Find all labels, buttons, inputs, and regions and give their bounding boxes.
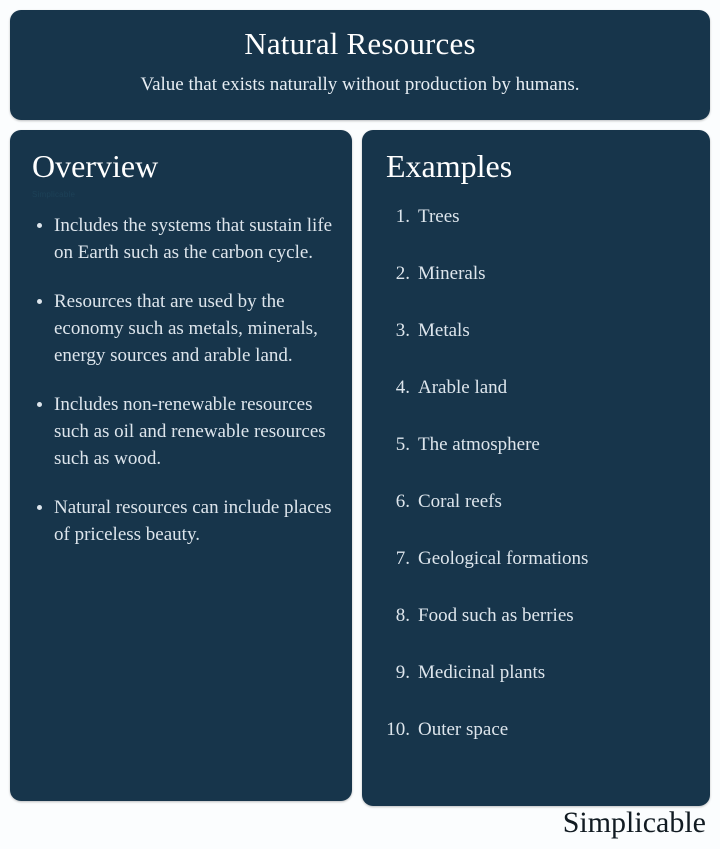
list-item: 9. Medicinal plants (374, 660, 694, 686)
list-item: Natural resources can include places of … (32, 494, 336, 548)
list-item-number: 5. (374, 432, 410, 458)
list-item-number: 6. (374, 489, 410, 515)
overview-heading: Overview (32, 146, 336, 186)
list-item-label: Medicinal plants (418, 660, 694, 686)
list-item-number: 1. (374, 204, 410, 230)
list-item-label: Arable land (418, 375, 694, 401)
list-item-number: 2. (374, 261, 410, 287)
list-item: Includes non-renewable resources such as… (32, 391, 336, 472)
overview-bullet-text: Resources that are used by the economy s… (54, 291, 318, 366)
list-item-label: Minerals (418, 261, 694, 287)
overview-bullet-list: Includes the systems that sustain life o… (32, 212, 336, 548)
list-item-number: 8. (374, 603, 410, 629)
overview-bullet-text: Includes the systems that sustain life o… (54, 215, 332, 263)
list-item: 7. Geological formations (374, 546, 694, 572)
overview-bullet-text: Includes non-renewable resources such as… (54, 394, 326, 469)
list-item-number: 7. (374, 546, 410, 572)
list-item: Resources that are used by the economy s… (32, 288, 336, 369)
page-title: Natural Resources (30, 24, 690, 64)
page-subtitle: Value that exists naturally without prod… (30, 70, 690, 100)
list-item: 6. Coral reefs (374, 489, 694, 515)
list-item: 10. Outer space (374, 717, 694, 743)
overview-card: Overview Simplicable Includes the system… (10, 130, 352, 801)
list-item-label: Food such as berries (418, 603, 694, 629)
bullet-dot-icon (37, 402, 42, 407)
list-item: 8. Food such as berries (374, 603, 694, 629)
list-item: Includes the systems that sustain life o… (32, 212, 336, 266)
infographic-page: Natural Resources Value that exists natu… (0, 0, 720, 849)
list-item-label: Outer space (418, 717, 694, 743)
bullet-dot-icon (37, 223, 42, 228)
list-item-label: Metals (418, 318, 694, 344)
list-item: 1. Trees (374, 204, 694, 230)
list-item-label: Geological formations (418, 546, 694, 572)
overview-watermark: Simplicable (32, 190, 336, 200)
list-item: 3. Metals (374, 318, 694, 344)
list-item-label: Trees (418, 204, 694, 230)
list-item-label: The atmosphere (418, 432, 694, 458)
list-item: 5. The atmosphere (374, 432, 694, 458)
list-item-label: Coral reefs (418, 489, 694, 515)
list-item-number: 4. (374, 375, 410, 401)
overview-bullet-text: Natural resources can include places of … (54, 497, 331, 545)
list-item-number: 10. (374, 717, 410, 743)
list-item: 2. Minerals (374, 261, 694, 287)
list-item-number: 3. (374, 318, 410, 344)
examples-heading: Examples (374, 146, 694, 186)
bullet-dot-icon (37, 299, 42, 304)
list-item-number: 9. (374, 660, 410, 686)
examples-card: Examples 1. Trees 2. Minerals 3. Metals … (362, 130, 710, 806)
list-item: 4. Arable land (374, 375, 694, 401)
header-banner: Natural Resources Value that exists natu… (10, 10, 710, 120)
examples-numbered-list: 1. Trees 2. Minerals 3. Metals 4. Arable… (374, 204, 694, 743)
bullet-dot-icon (37, 505, 42, 510)
footer-brand-logo: Simplicable (563, 805, 706, 841)
